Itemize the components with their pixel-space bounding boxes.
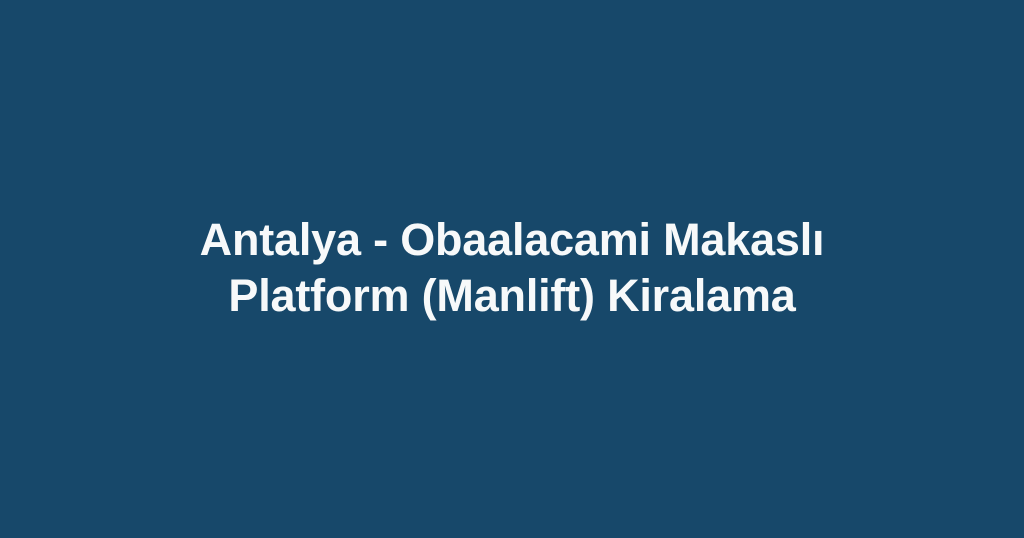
page-title-line-1: Antalya - Obaalacami Makaslı [174, 212, 850, 268]
share-preview-card: Antalya - Obaalacami Makaslı Platform (M… [0, 0, 1024, 538]
page-title-line-2: Platform (Manlift) Kiralama [174, 268, 850, 324]
page-title: Antalya - Obaalacami Makaslı Platform (M… [162, 212, 862, 324]
